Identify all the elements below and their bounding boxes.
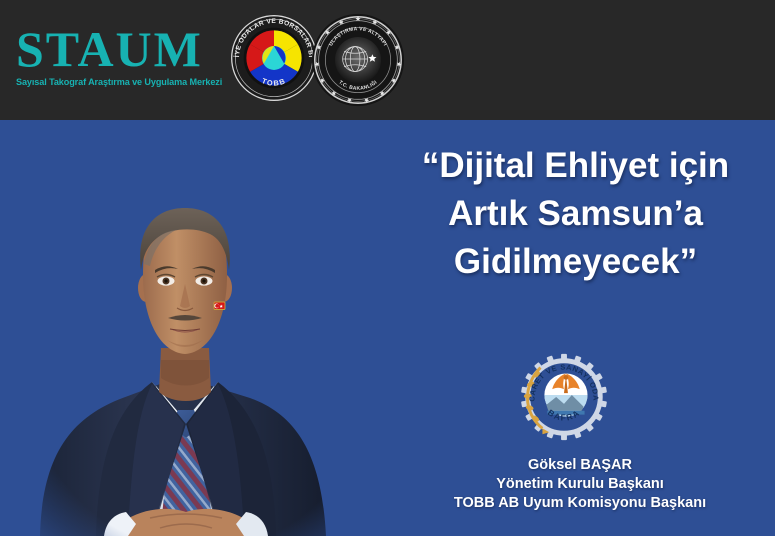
quote-line-3: Gidilmeyecek”	[388, 238, 763, 286]
tobb-emblem: TÜRKİYE ODALAR VE BORSALAR BİRLİĞİ TOBB	[228, 12, 320, 104]
header-bar: STAUM Sayısal Takograf Araştırma ve Uygu…	[0, 0, 775, 120]
bafra-chamber-logo: TİCARET VE SANAYİ ODASI BAFRA	[515, 348, 613, 446]
banner-body: “Dijital Ehliyet için Artık Samsun’a Gid…	[0, 120, 775, 536]
credit-role-1: Yönetim Kurulu Başkanı	[400, 475, 760, 494]
credit-name: Göksel BAŞAR	[400, 456, 760, 475]
staum-logo: STAUM Sayısal Takograf Araştırma ve Uygu…	[16, 24, 216, 87]
ministry-emblem: ULAŞTIRMA VE ALTYAPI T.C. BAKANLIĞI	[310, 12, 406, 108]
credit-role-2: TOBB AB Uyum Komisyonu Başkanı	[400, 494, 760, 513]
quote-block: “Dijital Ehliyet için Artık Samsun’a Gid…	[388, 142, 763, 286]
banner-image: STAUM Sayısal Takograf Araştırma ve Uygu…	[0, 0, 775, 536]
credit-block: Göksel BAŞAR Yönetim Kurulu Başkanı TOBB…	[400, 456, 760, 513]
quote-line-2: Artık Samsun’a	[388, 190, 763, 238]
quote-line-1: “Dijital Ehliyet için	[388, 142, 763, 190]
goksel-basar-portrait	[0, 120, 400, 536]
staum-wordmark: STAUM	[16, 24, 216, 74]
